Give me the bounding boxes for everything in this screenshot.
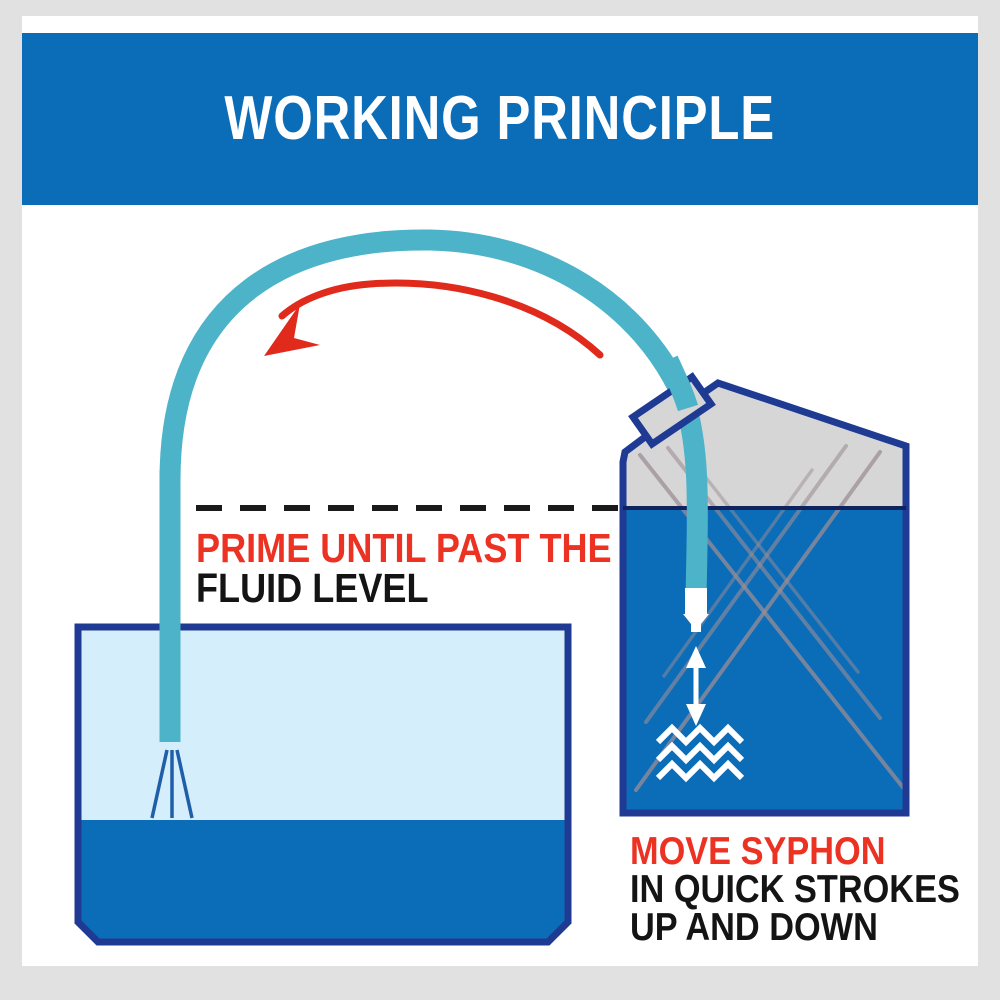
callout-prime-line1: PRIME UNTIL PAST THE bbox=[196, 529, 612, 569]
callout-prime-line2: FLUID LEVEL bbox=[196, 569, 612, 609]
callout-move: MOVE SYPHON IN QUICK STROKES UP AND DOWN bbox=[630, 833, 1000, 946]
header-banner: WORKING PRINCIPLE bbox=[22, 33, 978, 205]
infographic-root: WORKING PRINCIPLE bbox=[0, 0, 1000, 1000]
callout-move-line3: UP AND DOWN bbox=[630, 909, 960, 947]
callout-move-line1: MOVE SYPHON bbox=[630, 833, 960, 871]
page-title: WORKING PRINCIPLE bbox=[225, 88, 776, 150]
callout-move-line2: IN QUICK STROKES bbox=[630, 871, 960, 909]
callout-prime: PRIME UNTIL PAST THE FLUID LEVEL bbox=[196, 529, 668, 609]
